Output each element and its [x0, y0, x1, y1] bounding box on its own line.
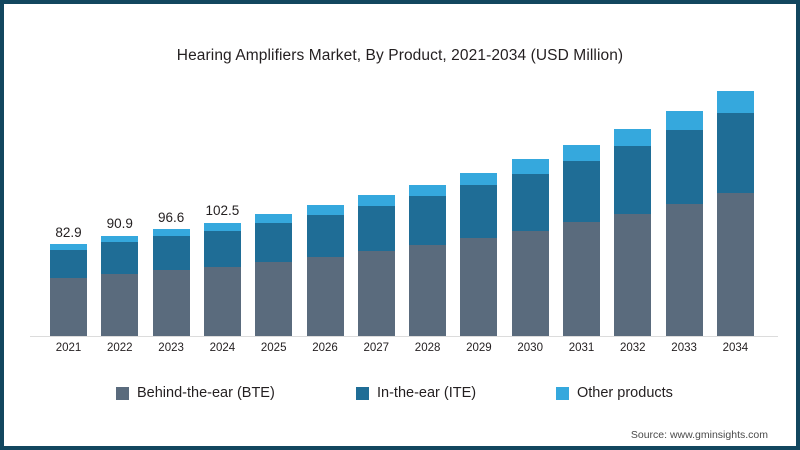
- bar-segment-behind-the-ear[interactable]: [101, 274, 138, 337]
- bar-segment-behind-the-ear[interactable]: [358, 251, 395, 336]
- source-attribution: Source: www.gminsights.com: [631, 429, 768, 441]
- legend-label: Other products: [577, 385, 673, 401]
- bar-column[interactable]: [307, 205, 344, 336]
- chart-legend: Behind-the-ear (BTE)In-the-ear (ITE)Othe…: [4, 385, 796, 409]
- bar-segment-behind-the-ear[interactable]: [255, 262, 292, 336]
- bar-value-label: 82.9: [55, 226, 81, 240]
- bar-segment-in-the-ear[interactable]: [563, 161, 600, 223]
- bar-segment-in-the-ear[interactable]: [717, 113, 754, 193]
- bar-segment-in-the-ear[interactable]: [255, 223, 292, 262]
- axis-baseline: [30, 336, 778, 337]
- bar-column[interactable]: [255, 214, 292, 336]
- bar-segment-behind-the-ear[interactable]: [512, 231, 549, 336]
- bar-column[interactable]: [614, 129, 651, 336]
- bar-segment-in-the-ear[interactable]: [512, 174, 549, 231]
- bar-column[interactable]: 90.9: [101, 236, 138, 336]
- bar-segment-behind-the-ear[interactable]: [666, 204, 703, 336]
- chart-title: Hearing Amplifiers Market, By Product, 2…: [4, 47, 796, 65]
- legend-swatch-icon: [356, 387, 369, 400]
- bar-column[interactable]: [460, 173, 497, 336]
- bar-column[interactable]: 82.9: [50, 244, 87, 336]
- x-tick-2021: 2021: [50, 342, 87, 354]
- x-tick-2031: 2031: [563, 342, 600, 354]
- x-tick-2022: 2022: [101, 342, 138, 354]
- bar-segment-behind-the-ear[interactable]: [614, 214, 651, 336]
- bar-segment-other-products[interactable]: [717, 91, 754, 113]
- bar-segment-behind-the-ear[interactable]: [50, 278, 87, 336]
- bar-column[interactable]: [717, 91, 754, 336]
- bar-segment-behind-the-ear[interactable]: [563, 222, 600, 336]
- x-tick-2032: 2032: [614, 342, 651, 354]
- bar-column[interactable]: [563, 145, 600, 336]
- x-tick-2029: 2029: [460, 342, 497, 354]
- bar-column[interactable]: [358, 195, 395, 336]
- legend-swatch-icon: [116, 387, 129, 400]
- legend-label: Behind-the-ear (BTE): [137, 385, 275, 401]
- bar-segment-in-the-ear[interactable]: [409, 196, 446, 245]
- legend-swatch-icon: [556, 387, 569, 400]
- bar-segment-in-the-ear[interactable]: [358, 206, 395, 251]
- legend-label: In-the-ear (ITE): [377, 385, 476, 401]
- x-tick-2028: 2028: [409, 342, 446, 354]
- bar-segment-behind-the-ear[interactable]: [460, 238, 497, 336]
- chart-canvas: Hearing Amplifiers Market, By Product, 2…: [4, 4, 796, 446]
- bar-segment-other-products[interactable]: [666, 111, 703, 131]
- x-tick-2034: 2034: [717, 342, 754, 354]
- chart-frame: Hearing Amplifiers Market, By Product, 2…: [0, 0, 800, 450]
- bar-column[interactable]: 96.6: [153, 229, 190, 336]
- x-tick-2024: 2024: [204, 342, 241, 354]
- bar-segment-in-the-ear[interactable]: [101, 242, 138, 273]
- bar-segment-in-the-ear[interactable]: [614, 146, 651, 213]
- bar-segment-other-products[interactable]: [512, 159, 549, 173]
- x-tick-2027: 2027: [358, 342, 395, 354]
- bar-segment-other-products[interactable]: [255, 214, 292, 223]
- bar-segment-other-products[interactable]: [358, 195, 395, 205]
- bar-value-label: 102.5: [205, 204, 239, 218]
- bar-segment-in-the-ear[interactable]: [50, 250, 87, 278]
- bar-segment-behind-the-ear[interactable]: [307, 257, 344, 336]
- bar-segment-other-products[interactable]: [460, 173, 497, 186]
- x-tick-2030: 2030: [512, 342, 549, 354]
- bar-segment-in-the-ear[interactable]: [666, 130, 703, 203]
- bar-segment-other-products[interactable]: [563, 145, 600, 161]
- bar-segment-other-products[interactable]: [153, 229, 190, 236]
- legend-item-3[interactable]: Other products: [556, 385, 673, 401]
- bar-value-label: 96.6: [158, 211, 184, 225]
- bar-segment-in-the-ear[interactable]: [204, 231, 241, 267]
- x-tick-2026: 2026: [307, 342, 344, 354]
- bar-segment-behind-the-ear[interactable]: [409, 245, 446, 336]
- bar-segment-behind-the-ear[interactable]: [153, 270, 190, 336]
- bar-segment-in-the-ear[interactable]: [153, 236, 190, 270]
- bar-segment-behind-the-ear[interactable]: [717, 193, 754, 336]
- bar-segment-other-products[interactable]: [204, 223, 241, 231]
- bar-segment-other-products[interactable]: [307, 205, 344, 214]
- x-axis-tick-labels: 2021202220232024202520262027202820292030…: [42, 342, 768, 362]
- bar-segment-in-the-ear[interactable]: [307, 215, 344, 257]
- x-tick-2023: 2023: [153, 342, 190, 354]
- legend-item-1[interactable]: Behind-the-ear (BTE): [116, 385, 275, 401]
- bar-column[interactable]: [512, 159, 549, 336]
- bar-column[interactable]: [409, 185, 446, 337]
- plot-area: 82.990.996.6102.5: [42, 82, 768, 336]
- bar-value-label: 90.9: [107, 217, 133, 231]
- x-tick-2025: 2025: [255, 342, 292, 354]
- legend-item-2[interactable]: In-the-ear (ITE): [356, 385, 476, 401]
- bar-column[interactable]: [666, 111, 703, 336]
- bar-segment-behind-the-ear[interactable]: [204, 267, 241, 336]
- bar-segment-other-products[interactable]: [614, 129, 651, 147]
- bar-segment-in-the-ear[interactable]: [460, 185, 497, 238]
- x-tick-2033: 2033: [666, 342, 703, 354]
- bar-segment-other-products[interactable]: [409, 185, 446, 197]
- bar-column[interactable]: 102.5: [204, 223, 241, 336]
